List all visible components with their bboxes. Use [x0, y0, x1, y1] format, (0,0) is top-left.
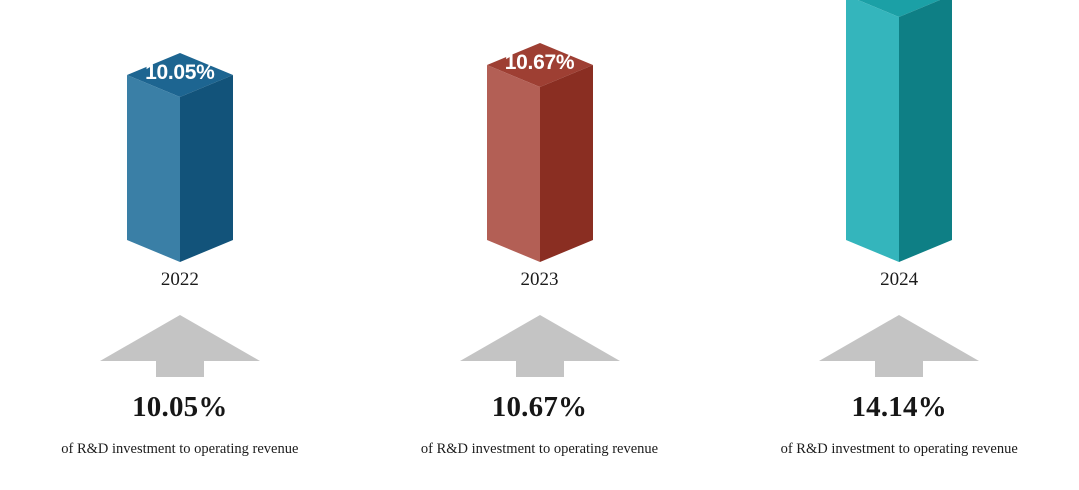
caption-2022: of R&D investment to operating revenue: [55, 440, 305, 459]
bar-right-face-2023: [540, 65, 593, 262]
bar-3d-2024: 14.14%: [846, 0, 952, 262]
year-label-2024: 2024: [880, 270, 918, 289]
big-percent-2024: 14.14%: [851, 393, 946, 422]
bar-3d-shape-2023: [487, 43, 593, 262]
bar-3d-shape-2024: [846, 0, 952, 262]
arrow-up-wrap-2022: [100, 315, 260, 379]
bar-3d-2023: 10.67%: [487, 43, 593, 262]
metric-column-2022: 10.05% 2022 10.05% of R&D investment to …: [0, 0, 360, 490]
metric-column-2024: 14.14% 2024 14.14% of R&D investment to …: [719, 0, 1079, 490]
arrow-up-icon: [100, 315, 260, 377]
year-label-2022: 2022: [161, 270, 199, 289]
big-percent-2022: 10.05%: [132, 393, 227, 422]
bar-left-face-2022: [127, 75, 180, 262]
caption-2024: of R&D investment to operating revenue: [774, 440, 1024, 459]
arrow-up-icon: [460, 315, 620, 377]
arrow-up-wrap-2023: [460, 315, 620, 379]
big-percent-2023: 10.67%: [492, 393, 587, 422]
bar-zone-2022: 10.05%: [0, 0, 360, 266]
arrow-up-wrap-2024: [819, 315, 979, 379]
bar-right-face-2022: [180, 75, 233, 262]
arrow-up-icon: [819, 315, 979, 377]
rnd-investment-infographic: 10.05% 2022 10.05% of R&D investment to …: [0, 0, 1079, 490]
caption-2023: of R&D investment to operating revenue: [415, 440, 665, 459]
bar-right-face-2024: [899, 0, 952, 262]
bar-left-face-2023: [487, 65, 540, 262]
bar-3d-2022: 10.05%: [127, 53, 233, 262]
bar-zone-2023: 10.67%: [360, 0, 720, 266]
bar-zone-2024: 14.14%: [719, 0, 1079, 266]
bar-left-face-2024: [846, 0, 899, 262]
metric-column-2023: 10.67% 2023 10.67% of R&D investment to …: [360, 0, 720, 490]
year-label-2023: 2023: [521, 270, 559, 289]
bar-3d-shape-2022: [127, 53, 233, 262]
